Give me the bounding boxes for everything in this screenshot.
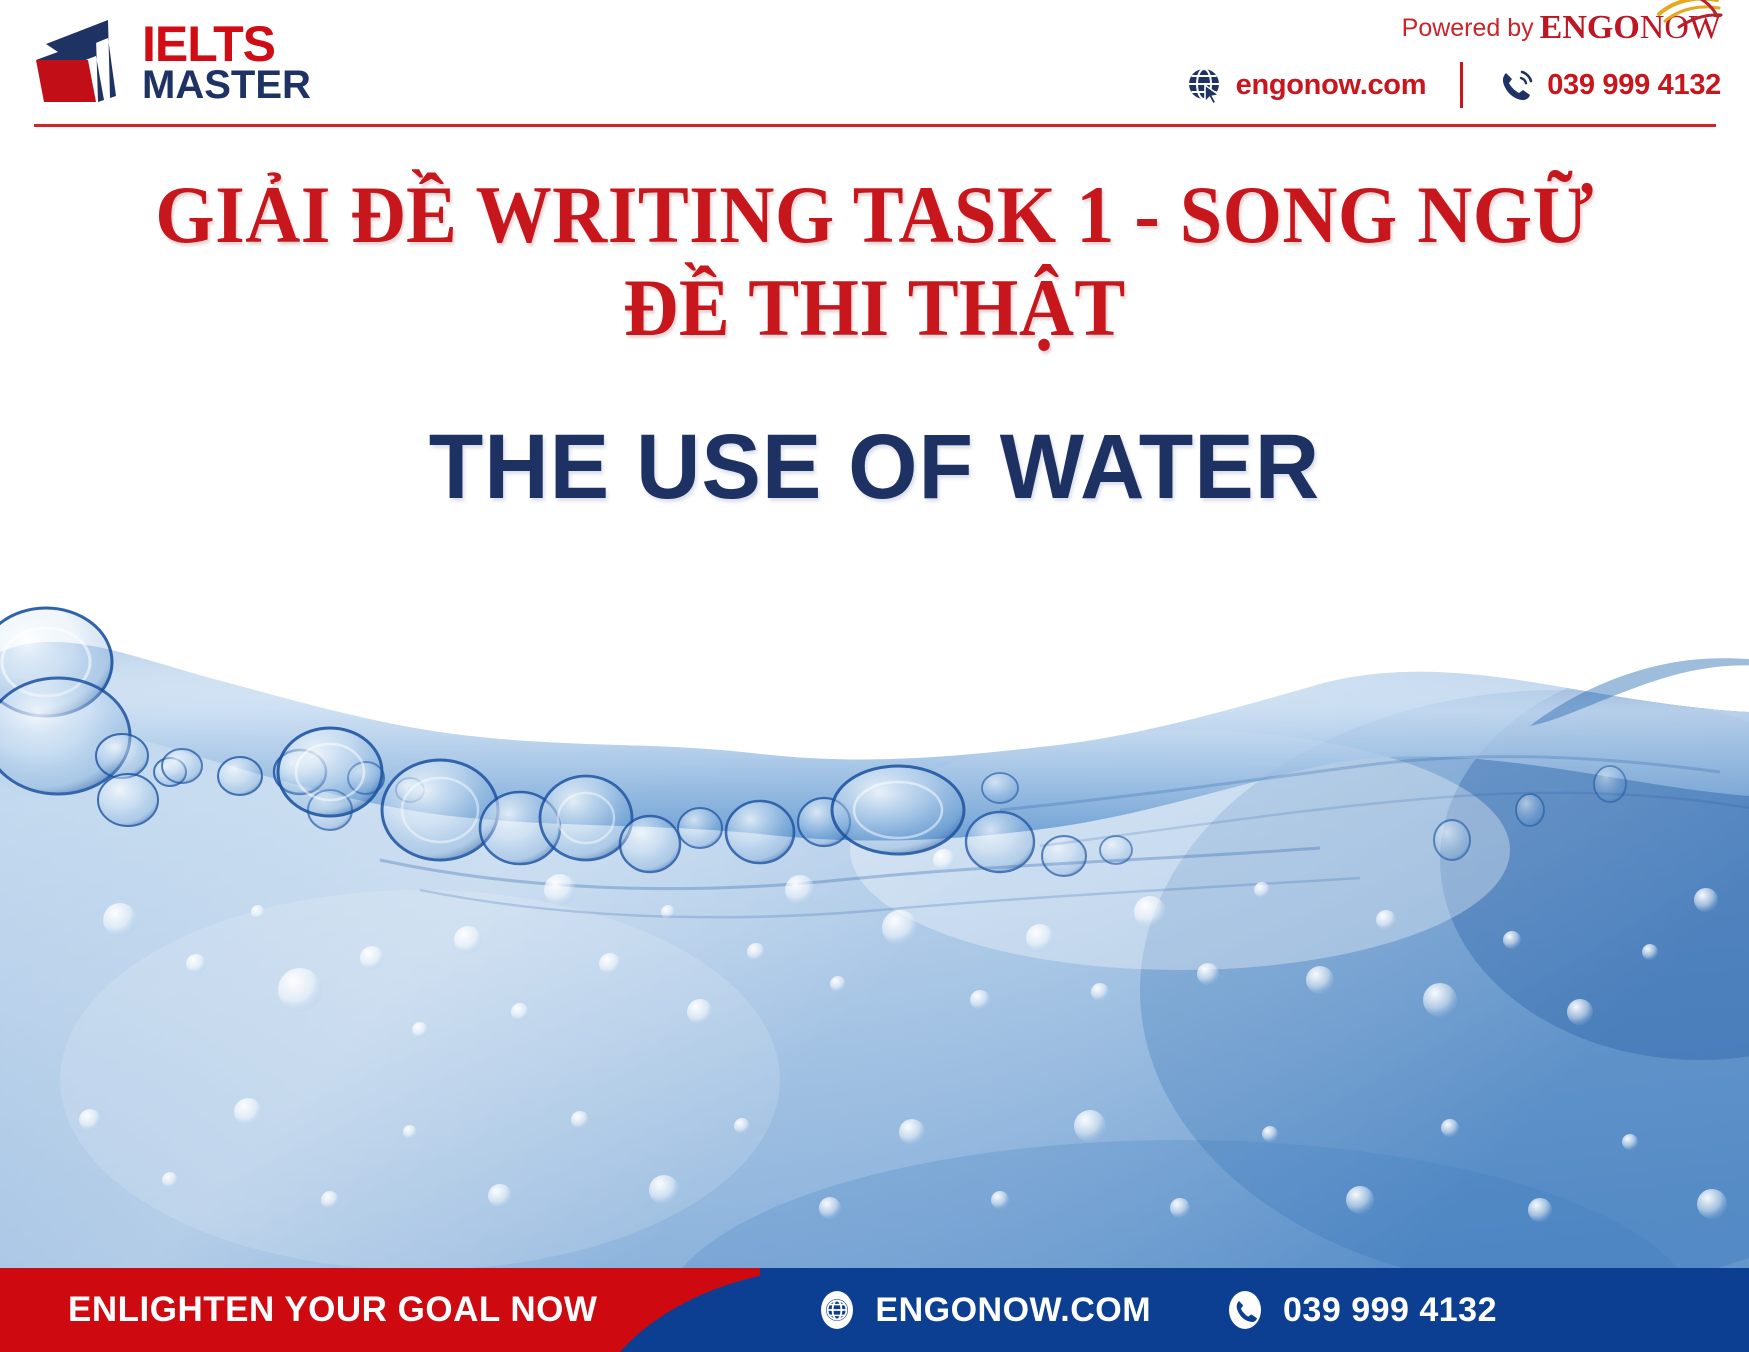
page-title-red: GIẢI ĐỀ WRITING TASK 1 - SONG NGỮ ĐỀ THI… <box>61 168 1688 355</box>
logo-text-ielts: IELTS <box>142 21 311 67</box>
header-website-item[interactable]: engonow.com <box>1186 66 1427 104</box>
brand-logo[interactable]: IELTS MASTER <box>34 16 311 106</box>
poster-canvas: IELTS MASTER Powered by ENGONOW <box>0 0 1749 1352</box>
logo-wordmark: IELTS MASTER <box>142 21 311 104</box>
footer-website-text: ENGONOW.COM <box>875 1291 1151 1330</box>
footer-slogan: ENLIGHTEN YOUR GOAL NOW <box>68 1268 597 1352</box>
book-bird-swoosh-icon <box>1655 0 1725 30</box>
page-title-blue: THE USE OF WATER <box>26 415 1723 520</box>
header-divider-rule <box>34 124 1716 127</box>
engonow-wordmark: ENGONOW <box>1540 8 1721 48</box>
title-red-line-2: ĐỀ THI THẬT <box>61 261 1688 354</box>
powered-by-engonow: Powered by ENGONOW <box>1402 8 1721 52</box>
header-contact-row: engonow.com 039 999 4132 <box>1186 58 1721 112</box>
powered-by-label: Powered by <box>1402 8 1534 48</box>
phone-icon <box>1225 1290 1265 1330</box>
header-contact-block: Powered by ENGONOW <box>1186 8 1721 112</box>
logo-text-master: MASTER <box>142 67 311 104</box>
footer-website-item[interactable]: ENGONOW.COM <box>817 1290 1151 1330</box>
globe-cursor-icon <box>1186 66 1224 104</box>
page-header: IELTS MASTER Powered by ENGONOW <box>0 0 1749 128</box>
header-phone-text: 039 999 4132 <box>1547 69 1721 102</box>
footer-contact-group: ENGONOW.COM 039 999 4132 <box>817 1268 1497 1352</box>
engonow-bold-part: ENGO <box>1540 9 1640 46</box>
header-website-text: engonow.com <box>1236 69 1427 102</box>
ielts-master-book-logo-icon <box>34 16 138 106</box>
footer-phone-item[interactable]: 039 999 4132 <box>1225 1290 1497 1330</box>
footer-phone-text: 039 999 4132 <box>1283 1291 1497 1330</box>
globe-icon <box>817 1290 857 1330</box>
phone-call-icon <box>1497 66 1535 104</box>
header-phone-item[interactable]: 039 999 4132 <box>1497 66 1721 104</box>
header-contact-divider <box>1460 62 1463 108</box>
page-footer: ENLIGHTEN YOUR GOAL NOW ENGONOW.COM <box>0 1268 1749 1352</box>
title-red-line-1: GIẢI ĐỀ WRITING TASK 1 - SONG NGỮ <box>155 169 1593 260</box>
water-surface-with-bubbles-photo <box>0 560 1749 1352</box>
